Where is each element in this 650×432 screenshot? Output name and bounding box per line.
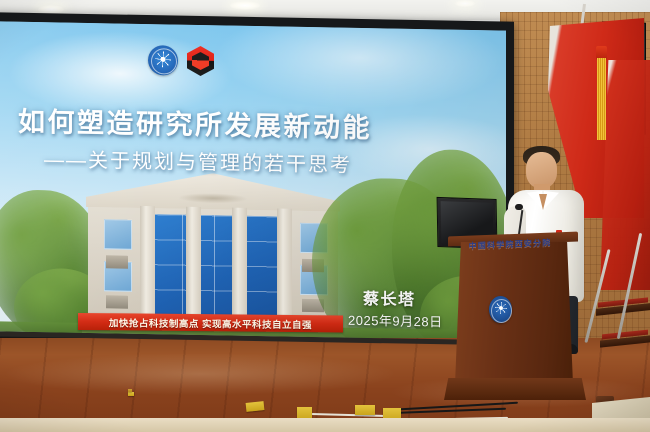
slide-speaker-name: 蔡长塔 (363, 285, 416, 310)
ac-unit (106, 295, 128, 308)
cas-circular-logo-icon (148, 45, 178, 76)
podium-base (444, 378, 586, 400)
gaffer-tape (355, 405, 375, 415)
building-window (104, 219, 132, 250)
slide-logo-group (148, 45, 214, 76)
building-column (186, 207, 201, 319)
podium-cas-emblem-icon (489, 296, 512, 323)
ac-unit (106, 255, 128, 268)
building-glass-curtain (150, 214, 278, 316)
podium-body (455, 242, 573, 384)
slide-date: 2025年9月28日 (348, 310, 443, 331)
stage-apron (0, 418, 650, 432)
downlight-icon (455, 0, 475, 7)
microphone-icon (515, 204, 523, 210)
gaffer-tape (128, 389, 132, 392)
building-banner-text: 加快抢占科技制高点 实现高水平科技自立自强 (109, 315, 312, 331)
slide-title: 如何塑造研究所发展新动能 (18, 100, 438, 147)
presenter-head (526, 152, 557, 188)
building-column (277, 208, 292, 320)
building-banner: 加快抢占科技制高点 实现高水平科技自立自强 (78, 313, 343, 333)
projection-screen: 加快抢占科技制高点 实现高水平科技自立自强 如何塑造研究所发展新动能 ——关于规… (0, 21, 506, 340)
presentation-scene: 加快抢占科技制高点 实现高水平科技自立自强 如何塑造研究所发展新动能 ——关于规… (0, 0, 650, 432)
gold-tassel (597, 58, 606, 140)
building-column (232, 208, 247, 320)
gaffer-tape (246, 401, 265, 412)
gaffer-tape (128, 392, 134, 396)
downlight-icon (230, 1, 260, 10)
building-column (140, 206, 155, 318)
hexagon-logo-icon (187, 46, 214, 76)
